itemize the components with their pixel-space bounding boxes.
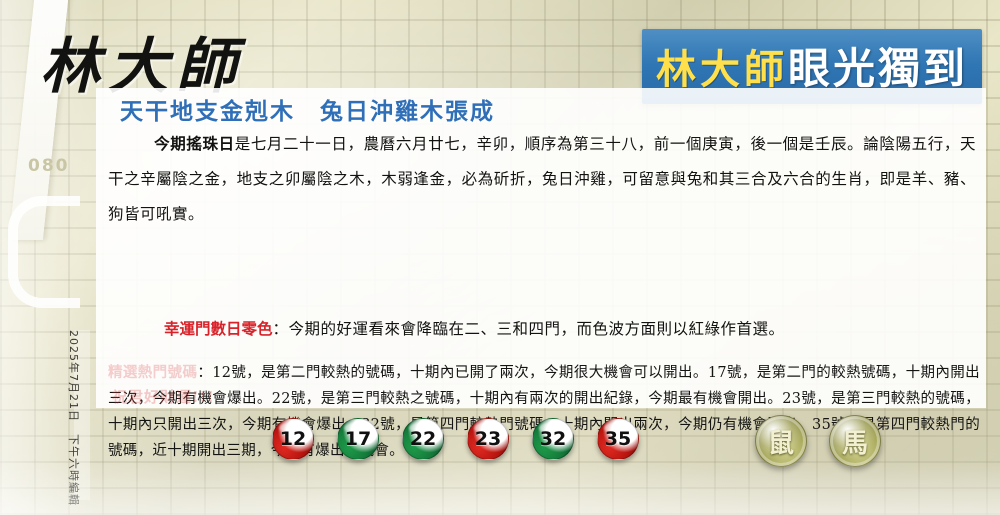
article-paragraph-1: 今期搖珠日是七月二十一日，農曆六月廿七，辛卯，順序為第三十八，前一個庚寅，後一個… [108,126,976,232]
hot-numbers-label: 精選熱門號碼 [108,364,197,381]
blessing-text: 祝君好財運!!! [112,386,215,407]
lottery-ball[interactable]: 12 [272,418,314,460]
zodiac-label: 馬 [842,423,868,460]
article-panel: 天干地支金剋木 兔日沖雞木張成 今期搖珠日是七月二十一日，農曆六月廿七，辛卯，順… [96,88,986,408]
lottery-ball-row: 12 17 22 23 32 35 [272,418,639,460]
banner-highlight-text: 林大師 [656,37,788,95]
ball-number: 22 [410,428,436,450]
ball-number: 23 [475,428,501,450]
article-title: 天干地支金剋木 兔日沖雞木張成 [120,92,495,126]
ball-number: 12 [280,428,306,450]
newspaper-page: 080 2025年7月21日 下午六時編輯 林大師 林大師 眼光獨到 天干地支金… [0,0,1000,515]
ball-number: 17 [345,428,371,450]
lottery-ball[interactable]: 22 [402,418,444,460]
edition-date: 2025年7月21日 下午六時編輯 [66,330,82,480]
bottom-fade-decoration [0,460,1000,515]
lead-label: 今期搖珠日 [154,134,235,153]
zodiac-label: 鼠 [768,423,794,460]
paragraph-1-text: 是七月二十一日，農曆六月廿七，辛卯，順序為第三十八，前一個庚寅，後一個是壬辰。論… [108,135,976,223]
banner-main-text: 眼光獨到 [788,35,968,96]
ball-number: 35 [605,428,631,450]
lottery-ball[interactable]: 23 [467,418,509,460]
lucky-text: ：今期的好運看來會降臨在二、三和四門，而色波方面則以紅綠作首選。 [273,320,785,338]
lottery-ball[interactable]: 17 [337,418,379,460]
lottery-ball[interactable]: 32 [532,418,574,460]
ball-number: 32 [540,428,566,450]
lucky-paragraph: 幸運門數日零色：今期的好運看來會降臨在二、三和四門，而色波方面則以紅綠作首選。 [108,312,976,346]
lottery-ball[interactable]: 35 [597,418,639,460]
page-number: 080 [28,156,70,176]
lucky-label: 幸運門數日零色 [164,319,273,338]
rail-hook-decoration [8,196,80,308]
article-body: 今期搖珠日是七月二十一日，農曆六月廿七，辛卯，順序為第三十八，前一個庚寅，後一個… [108,126,976,232]
